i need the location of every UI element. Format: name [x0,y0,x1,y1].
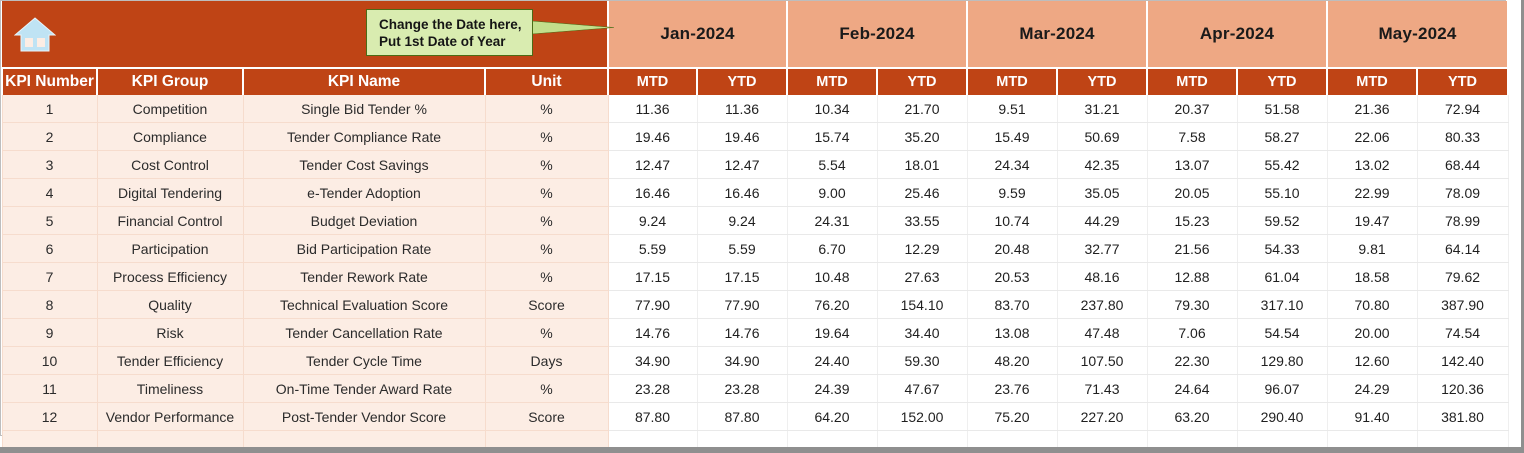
table-row[interactable]: 4Digital Tenderinge-Tender Adoption%16.4… [2,179,1508,207]
cell-unit: Days [485,347,608,375]
cell-apr-2024-ytd: 54.54 [1237,319,1327,347]
cell-may-2024-ytd: 78.99 [1417,207,1508,235]
cell-may-2024-ytd: 120.36 [1417,375,1508,403]
cell-kpi-name: Tender Cycle Time [243,347,485,375]
cell-feb-2024-mtd: 15.74 [787,123,877,151]
cell-may-2024-ytd: 387.90 [1417,291,1508,319]
column-header-apr-ytd: YTD [1237,68,1327,95]
cell-mar-2024-ytd [1057,431,1147,453]
cell-mar-2024-ytd: 47.48 [1057,319,1147,347]
cell-mar-2024-mtd: 23.76 [967,375,1057,403]
cell-apr-2024-ytd: 129.80 [1237,347,1327,375]
cell-apr-2024-ytd: 54.33 [1237,235,1327,263]
cell-feb-2024-ytd: 33.55 [877,207,967,235]
cell-jan-2024-mtd: 14.76 [608,319,697,347]
cell-apr-2024-mtd: 20.37 [1147,95,1237,123]
cell-mar-2024-mtd: 10.74 [967,207,1057,235]
cell-kpi-group: Risk [97,319,243,347]
cell-unit: % [485,375,608,403]
cell-may-2024-mtd: 9.81 [1327,235,1417,263]
cell-unit: % [485,95,608,123]
cell-may-2024-ytd: 142.40 [1417,347,1508,375]
cell-kpi-number: 1 [2,95,97,123]
cell-mar-2024-ytd: 35.05 [1057,179,1147,207]
cell-may-2024-ytd: 72.94 [1417,95,1508,123]
cell-may-2024-mtd: 13.02 [1327,151,1417,179]
cell-mar-2024-mtd: 15.49 [967,123,1057,151]
kpi-table: Jan-2024 Feb-2024 Mar-2024 Apr-2024 May-… [1,1,1509,453]
cell-feb-2024-ytd: 18.01 [877,151,967,179]
cell-unit: % [485,319,608,347]
table-row[interactable]: 6ParticipationBid Participation Rate%5.5… [2,235,1508,263]
cell-apr-2024-ytd: 317.10 [1237,291,1327,319]
cell-mar-2024-ytd: 42.35 [1057,151,1147,179]
cell-feb-2024-ytd: 47.67 [877,375,967,403]
cell-kpi-number: 11 [2,375,97,403]
cell-mar-2024-ytd: 31.21 [1057,95,1147,123]
table-row[interactable]: 5Financial ControlBudget Deviation%9.249… [2,207,1508,235]
cell-kpi-name: Tender Cost Savings [243,151,485,179]
cell-kpi-name: Tender Compliance Rate [243,123,485,151]
cell-kpi-number: 9 [2,319,97,347]
cell-mar-2024-mtd [967,431,1057,453]
cell-may-2024-mtd: 91.40 [1327,403,1417,431]
cell-kpi-name: Tender Cancellation Rate [243,319,485,347]
cell-kpi-name: Technical Evaluation Score [243,291,485,319]
cell-mar-2024-ytd: 32.77 [1057,235,1147,263]
column-header-mar-ytd: YTD [1057,68,1147,95]
column-header-jan-mtd: MTD [608,68,697,95]
cell-feb-2024-mtd: 10.34 [787,95,877,123]
month-header-3: Apr-2024 [1147,1,1327,68]
cell-kpi-number: 8 [2,291,97,319]
cell-kpi-group: Vendor Performance [97,403,243,431]
cell-mar-2024-mtd: 48.20 [967,347,1057,375]
cell-kpi-name: Bid Participation Rate [243,235,485,263]
column-header-kpi-name: KPI Name [243,68,485,95]
cell-kpi-group: Digital Tendering [97,179,243,207]
cell-mar-2024-mtd: 20.53 [967,263,1057,291]
cell-may-2024-mtd: 20.00 [1327,319,1417,347]
cell-kpi-name: Single Bid Tender % [243,95,485,123]
cell-may-2024-mtd: 12.60 [1327,347,1417,375]
cell-jan-2024-mtd: 19.46 [608,123,697,151]
column-header-kpi-group: KPI Group [97,68,243,95]
cell-unit: Score [485,403,608,431]
table-row[interactable] [2,431,1508,453]
table-row[interactable]: 11TimelinessOn-Time Tender Award Rate%23… [2,375,1508,403]
month-header-4: May-2024 [1327,1,1508,68]
cell-apr-2024-ytd: 61.04 [1237,263,1327,291]
cell-jan-2024-ytd: 87.80 [697,403,787,431]
table-body: 1CompetitionSingle Bid Tender %%11.3611.… [2,95,1508,453]
cell-apr-2024-ytd: 55.42 [1237,151,1327,179]
cell-kpi-group [97,431,243,453]
cell-feb-2024-mtd: 24.31 [787,207,877,235]
cell-mar-2024-ytd: 71.43 [1057,375,1147,403]
table-row[interactable]: 7Process EfficiencyTender Rework Rate%17… [2,263,1508,291]
cell-may-2024-mtd: 70.80 [1327,291,1417,319]
table-row[interactable]: 9RiskTender Cancellation Rate%14.7614.76… [2,319,1508,347]
cell-kpi-group: Process Efficiency [97,263,243,291]
column-header-mar-mtd: MTD [967,68,1057,95]
cell-may-2024-ytd: 80.33 [1417,123,1508,151]
cell-jan-2024-ytd: 77.90 [697,291,787,319]
cell-mar-2024-mtd: 20.48 [967,235,1057,263]
cell-jan-2024-ytd: 16.46 [697,179,787,207]
cell-feb-2024-ytd: 154.10 [877,291,967,319]
cell-jan-2024-ytd: 17.15 [697,263,787,291]
cell-apr-2024-mtd: 21.56 [1147,235,1237,263]
column-header-kpi-number: KPI Number [2,68,97,95]
column-header-may-ytd: YTD [1417,68,1508,95]
cell-unit: % [485,263,608,291]
cell-may-2024-mtd: 22.99 [1327,179,1417,207]
cell-feb-2024-mtd [787,431,877,453]
cell-feb-2024-mtd: 24.39 [787,375,877,403]
column-header-row: KPI Number KPI Group KPI Name Unit MTD Y… [2,68,1508,95]
cell-kpi-name: e-Tender Adoption [243,179,485,207]
cell-may-2024-mtd [1327,431,1417,453]
cell-feb-2024-ytd [877,431,967,453]
cell-kpi-name: Budget Deviation [243,207,485,235]
cell-kpi-number: 5 [2,207,97,235]
cell-apr-2024-mtd: 20.05 [1147,179,1237,207]
cell-mar-2024-mtd: 83.70 [967,291,1057,319]
cell-jan-2024-mtd: 5.59 [608,235,697,263]
cell-kpi-name: Tender Rework Rate [243,263,485,291]
cell-feb-2024-mtd: 76.20 [787,291,877,319]
cell-may-2024-ytd: 381.80 [1417,403,1508,431]
cell-jan-2024-mtd: 23.28 [608,375,697,403]
cell-kpi-number: 2 [2,123,97,151]
spreadsheet-sheet: Jan-2024 Feb-2024 Mar-2024 Apr-2024 May-… [0,0,1506,436]
callout-line-2: Put 1st Date of Year [379,33,532,50]
cell-may-2024-ytd: 78.09 [1417,179,1508,207]
cell-apr-2024-ytd: 51.58 [1237,95,1327,123]
cell-feb-2024-ytd: 21.70 [877,95,967,123]
cell-feb-2024-ytd: 34.40 [877,319,967,347]
cell-unit: % [485,235,608,263]
cell-feb-2024-ytd: 27.63 [877,263,967,291]
cell-may-2024-ytd: 74.54 [1417,319,1508,347]
table-row[interactable]: 2ComplianceTender Compliance Rate%19.461… [2,123,1508,151]
cell-may-2024-mtd: 21.36 [1327,95,1417,123]
cell-mar-2024-ytd: 107.50 [1057,347,1147,375]
cell-unit: % [485,179,608,207]
cell-jan-2024-mtd: 34.90 [608,347,697,375]
cell-jan-2024-mtd: 9.24 [608,207,697,235]
cell-apr-2024-mtd: 7.06 [1147,319,1237,347]
cell-jan-2024-mtd: 77.90 [608,291,697,319]
column-header-may-mtd: MTD [1327,68,1417,95]
cell-kpi-number: 3 [2,151,97,179]
cell-jan-2024-mtd: 11.36 [608,95,697,123]
cell-jan-2024-mtd: 16.46 [608,179,697,207]
cell-kpi-group: Financial Control [97,207,243,235]
cell-apr-2024-mtd: 22.30 [1147,347,1237,375]
column-header-feb-mtd: MTD [787,68,877,95]
cell-feb-2024-mtd: 24.40 [787,347,877,375]
banner-row: Jan-2024 Feb-2024 Mar-2024 Apr-2024 May-… [2,1,1508,68]
month-header-0: Jan-2024 [608,1,787,68]
table-row[interactable]: 1CompetitionSingle Bid Tender %%11.3611.… [2,95,1508,123]
cell-mar-2024-mtd: 24.34 [967,151,1057,179]
cell-apr-2024-mtd: 63.20 [1147,403,1237,431]
cell-apr-2024-ytd: 59.52 [1237,207,1327,235]
cell-may-2024-ytd: 68.44 [1417,151,1508,179]
month-header-1: Feb-2024 [787,1,967,68]
cell-mar-2024-ytd: 227.20 [1057,403,1147,431]
cell-feb-2024-mtd: 5.54 [787,151,877,179]
cell-unit [485,431,608,453]
cell-jan-2024-ytd: 23.28 [697,375,787,403]
cell-apr-2024-mtd: 79.30 [1147,291,1237,319]
cell-jan-2024-ytd: 14.76 [697,319,787,347]
cell-feb-2024-ytd: 59.30 [877,347,967,375]
column-header-apr-mtd: MTD [1147,68,1237,95]
cell-apr-2024-ytd [1237,431,1327,453]
cell-jan-2024-mtd: 12.47 [608,151,697,179]
table-row[interactable]: 10Tender EfficiencyTender Cycle TimeDays… [2,347,1508,375]
cell-kpi-group: Tender Efficiency [97,347,243,375]
cell-apr-2024-mtd: 13.07 [1147,151,1237,179]
cell-kpi-number: 6 [2,235,97,263]
cell-may-2024-ytd: 79.62 [1417,263,1508,291]
cell-feb-2024-ytd: 152.00 [877,403,967,431]
cell-jan-2024-ytd: 11.36 [697,95,787,123]
kpi-dashboard-screen: Jan-2024 Feb-2024 Mar-2024 Apr-2024 May-… [0,0,1524,453]
cell-apr-2024-ytd: 96.07 [1237,375,1327,403]
cell-jan-2024-ytd: 9.24 [697,207,787,235]
table-row[interactable]: 12Vendor PerformancePost-Tender Vendor S… [2,403,1508,431]
cell-mar-2024-ytd: 50.69 [1057,123,1147,151]
cell-jan-2024-mtd: 87.80 [608,403,697,431]
callout-arrow-icon [532,21,614,35]
cell-apr-2024-ytd: 290.40 [1237,403,1327,431]
cell-mar-2024-mtd: 9.59 [967,179,1057,207]
cell-jan-2024-ytd: 19.46 [697,123,787,151]
column-header-jan-ytd: YTD [697,68,787,95]
cell-kpi-group: Timeliness [97,375,243,403]
cell-kpi-name: Post-Tender Vendor Score [243,403,485,431]
cell-kpi-name: On-Time Tender Award Rate [243,375,485,403]
cell-kpi-number: 7 [2,263,97,291]
cell-apr-2024-mtd: 15.23 [1147,207,1237,235]
cell-mar-2024-mtd: 75.20 [967,403,1057,431]
cell-kpi-number: 12 [2,403,97,431]
cell-kpi-group: Participation [97,235,243,263]
cell-may-2024-mtd: 22.06 [1327,123,1417,151]
cell-kpi-group: Quality [97,291,243,319]
cell-apr-2024-mtd [1147,431,1237,453]
cell-feb-2024-mtd: 19.64 [787,319,877,347]
cell-feb-2024-mtd: 10.48 [787,263,877,291]
cell-kpi-number: 4 [2,179,97,207]
cell-kpi-number [2,431,97,453]
cell-jan-2024-ytd: 34.90 [697,347,787,375]
callout-line-1: Change the Date here, [379,16,532,33]
table-row[interactable]: 8QualityTechnical Evaluation ScoreScore7… [2,291,1508,319]
cell-may-2024-mtd: 24.29 [1327,375,1417,403]
cell-jan-2024-mtd [608,431,697,453]
cell-apr-2024-ytd: 58.27 [1237,123,1327,151]
cell-feb-2024-mtd: 6.70 [787,235,877,263]
cell-jan-2024-ytd: 5.59 [697,235,787,263]
cell-unit: % [485,123,608,151]
cell-unit: Score [485,291,608,319]
cell-unit: % [485,207,608,235]
cell-feb-2024-ytd: 25.46 [877,179,967,207]
cell-apr-2024-mtd: 12.88 [1147,263,1237,291]
cell-feb-2024-ytd: 12.29 [877,235,967,263]
cell-kpi-name [243,431,485,453]
cell-may-2024-ytd: 64.14 [1417,235,1508,263]
cell-may-2024-mtd: 19.47 [1327,207,1417,235]
cell-mar-2024-mtd: 9.51 [967,95,1057,123]
cell-feb-2024-ytd: 35.20 [877,123,967,151]
cell-apr-2024-ytd: 55.10 [1237,179,1327,207]
month-header-2: Mar-2024 [967,1,1147,68]
cell-apr-2024-mtd: 24.64 [1147,375,1237,403]
cell-kpi-group: Compliance [97,123,243,151]
cell-kpi-group: Cost Control [97,151,243,179]
cell-kpi-group: Competition [97,95,243,123]
cell-may-2024-mtd: 18.58 [1327,263,1417,291]
cell-may-2024-ytd [1417,431,1508,453]
cell-jan-2024-ytd: 12.47 [697,151,787,179]
cell-unit: % [485,151,608,179]
column-header-unit: Unit [485,68,608,95]
cell-mar-2024-mtd: 13.08 [967,319,1057,347]
table-header: Jan-2024 Feb-2024 Mar-2024 Apr-2024 May-… [2,1,1508,95]
date-change-callout: Change the Date here, Put 1st Date of Ye… [366,9,533,56]
cell-apr-2024-mtd: 7.58 [1147,123,1237,151]
column-header-feb-ytd: YTD [877,68,967,95]
cell-kpi-number: 10 [2,347,97,375]
cell-mar-2024-ytd: 44.29 [1057,207,1147,235]
cell-mar-2024-ytd: 48.16 [1057,263,1147,291]
table-row[interactable]: 3Cost ControlTender Cost Savings%12.4712… [2,151,1508,179]
cell-mar-2024-ytd: 237.80 [1057,291,1147,319]
cell-jan-2024-mtd: 17.15 [608,263,697,291]
cell-jan-2024-ytd [697,431,787,453]
cell-feb-2024-mtd: 9.00 [787,179,877,207]
cell-feb-2024-mtd: 64.20 [787,403,877,431]
